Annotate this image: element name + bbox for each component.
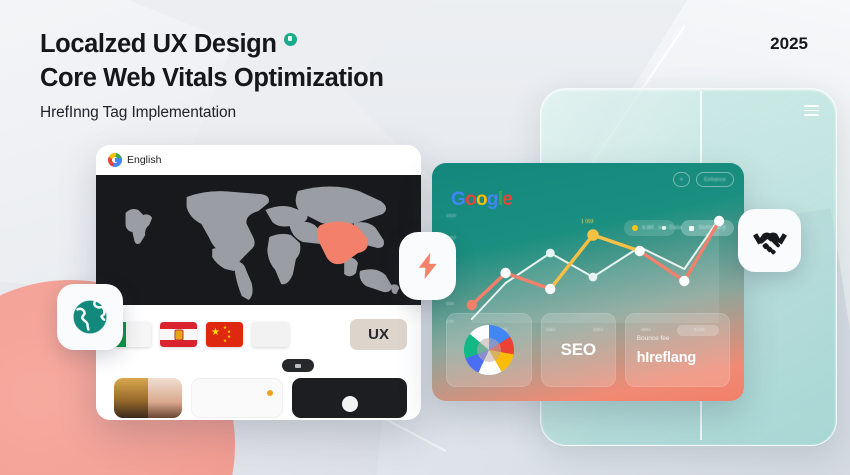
flag-china-icon[interactable]: ★ ★ ★ ★ ★ (206, 322, 243, 347)
svg-text:1820: 1820 (446, 213, 457, 218)
world-map-panel (96, 175, 421, 305)
placeholder-bar (677, 325, 719, 336)
hreflang-card[interactable]: Bounce fee hIreflang (625, 313, 730, 387)
seo-card[interactable]: SEO (541, 313, 616, 387)
bounce-rate-label: Bounce fee (637, 335, 670, 342)
year-label: 2025 (770, 34, 808, 54)
export-button[interactable]: Enhance (696, 172, 734, 187)
ux-tag-pill[interactable]: UX (350, 319, 407, 350)
info-tile[interactable] (191, 378, 283, 418)
headline-line-1: Localzed UX Design (40, 28, 277, 62)
teal-status-dot-icon (284, 33, 297, 46)
browser-toolbar: English (96, 145, 421, 175)
lightning-bolt-icon (413, 247, 443, 285)
headline-block: Localzed UX Design Core Web Vitals Optim… (40, 28, 384, 122)
headline-line-2: Core Web Vitals Optimization (40, 62, 384, 96)
handshake-icon (751, 222, 789, 260)
card-bottom-row (96, 372, 421, 418)
world-map-svg (96, 175, 421, 305)
localization-browser-card: English (96, 145, 421, 420)
notification-dot-icon (267, 390, 273, 396)
svg-text:300: 300 (446, 301, 454, 306)
lightning-bolt-badge[interactable] (399, 232, 456, 300)
hamburger-menu-icon[interactable] (804, 105, 819, 116)
globe-icon-badge[interactable] (57, 284, 123, 350)
headline-subtitle: HrefInng Tag Implementation (40, 104, 384, 122)
handshake-badge[interactable] (738, 209, 801, 272)
hreflang-label: hIreflang (637, 350, 696, 366)
language-flag-row: ★ ★ ★ ★ ★ UX (96, 305, 421, 350)
analytics-dashboard-card: ≡ Enhance Google Edit ooo Summary Data 1… (432, 163, 744, 401)
filter-icon-button[interactable]: ≡ (673, 172, 690, 187)
dashboard-top-actions: ≡ Enhance (673, 172, 734, 187)
user-avatars[interactable] (114, 378, 182, 418)
profile-tile[interactable] (292, 378, 407, 418)
language-toggle-pill[interactable] (282, 359, 314, 372)
donut-chart-card[interactable] (446, 313, 532, 387)
google-chrome-icon (108, 153, 122, 167)
seo-label: SEO (561, 340, 596, 360)
peak-value-label: 1 093 (581, 219, 594, 225)
language-label: English (127, 154, 161, 166)
flag-spain-icon[interactable] (160, 322, 197, 347)
donut-chart-icon (464, 325, 514, 375)
dashboard-stat-row: SEO Bounce fee hIreflang (446, 313, 730, 387)
globe-icon (70, 297, 110, 337)
flag-placeholder-icon[interactable] (252, 322, 289, 347)
